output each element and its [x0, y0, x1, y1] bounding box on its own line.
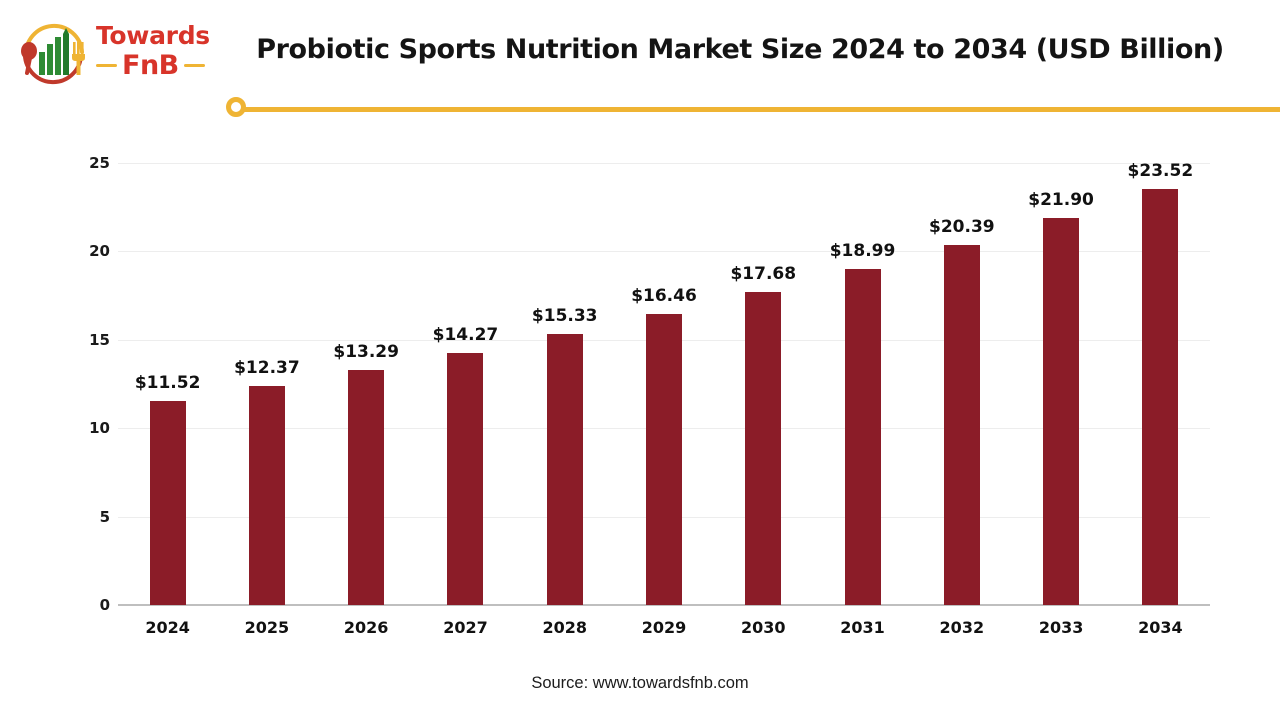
- bar-value-label: $14.27: [405, 325, 525, 345]
- bar-group: $11.52: [150, 163, 186, 605]
- y-axis-label: 10: [60, 419, 110, 437]
- bar: [547, 334, 583, 605]
- y-axis-label: 25: [60, 154, 110, 172]
- y-axis-label: 5: [60, 508, 110, 526]
- bar-series: $11.52$12.37$13.29$14.27$15.33$16.46$17.…: [118, 163, 1210, 605]
- bar: [845, 269, 881, 605]
- bar: [348, 370, 384, 605]
- bar: [150, 401, 186, 605]
- bar: [646, 314, 682, 605]
- x-axis-ticks: 2024202520262027202820292030203120322033…: [118, 618, 1210, 644]
- bar-group: $16.46: [646, 163, 682, 605]
- bar-group: $18.99: [845, 163, 881, 605]
- bar-value-label: $17.68: [703, 264, 823, 284]
- bar-group: $15.33: [547, 163, 583, 605]
- x-axis-label: 2034: [1100, 618, 1220, 637]
- bar-value-label: $20.39: [902, 217, 1022, 237]
- chart-page: Towards FnB Probiotic Sports Nutrition M…: [0, 0, 1280, 720]
- bar: [745, 292, 781, 605]
- bar: [1043, 218, 1079, 605]
- bar-value-label: $13.29: [306, 342, 426, 362]
- bar-chart: 0510152025 $11.52$12.37$13.29$14.27$15.3…: [0, 0, 1280, 720]
- bar-value-label: $18.99: [803, 241, 923, 261]
- bar: [249, 386, 285, 605]
- bar-group: $12.37: [249, 163, 285, 605]
- y-axis-label: 20: [60, 242, 110, 260]
- y-axis-label: 15: [60, 331, 110, 349]
- bar-value-label: $15.33: [505, 306, 625, 326]
- bar-group: $14.27: [447, 163, 483, 605]
- bar-value-label: $23.52: [1100, 161, 1220, 181]
- bar-value-label: $21.90: [1001, 190, 1121, 210]
- bar: [1142, 189, 1178, 605]
- bar-group: $21.90: [1043, 163, 1079, 605]
- y-axis-label: 0: [60, 596, 110, 614]
- source-caption: Source: www.towardsfnb.com: [0, 674, 1280, 693]
- bar-group: $20.39: [944, 163, 980, 605]
- bar: [944, 245, 980, 605]
- bar-group: $17.68: [745, 163, 781, 605]
- bar-group: $13.29: [348, 163, 384, 605]
- y-axis-ticks: 0510152025: [58, 163, 110, 605]
- bar-value-label: $16.46: [604, 286, 724, 306]
- bar: [447, 353, 483, 605]
- bar-group: $23.52: [1142, 163, 1178, 605]
